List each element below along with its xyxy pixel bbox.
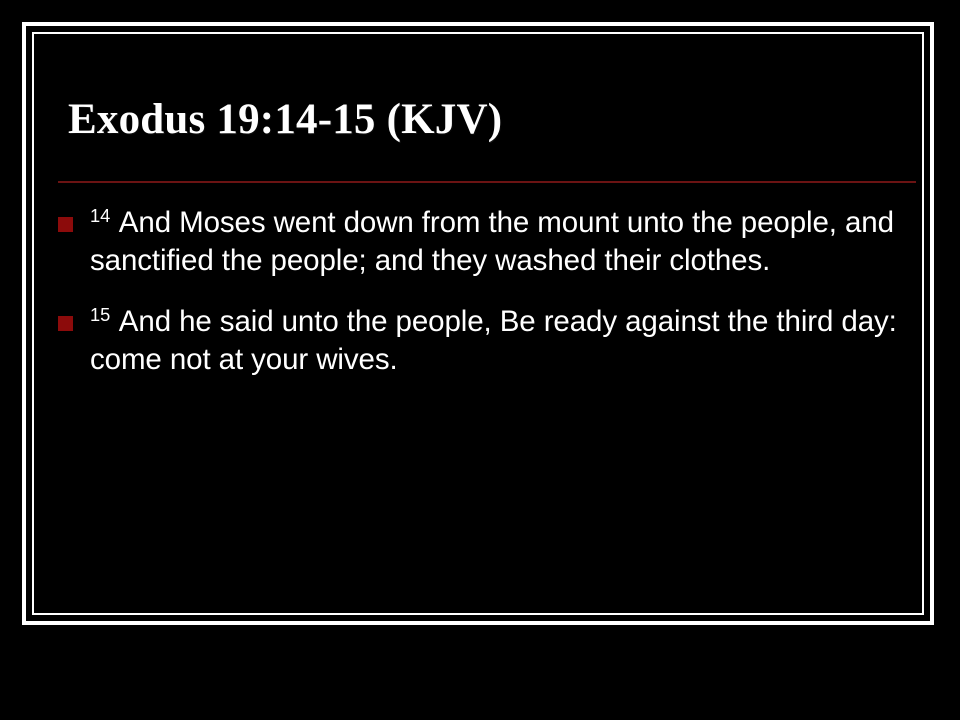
verse-number: 14 — [90, 205, 112, 226]
verse-text: And Moses went down from the mount unto … — [90, 206, 894, 277]
title-divider — [58, 181, 916, 183]
list-item: 15 And he said unto the people, Be ready… — [48, 303, 920, 380]
list-item: 14 And Moses went down from the mount un… — [48, 204, 920, 281]
square-bullet-icon — [58, 316, 73, 331]
square-bullet-icon — [58, 217, 73, 232]
slide-content: Exodus 19:14-15 (KJV) 14 And Moses went … — [36, 36, 920, 611]
verse-text: And he said unto the people, Be ready ag… — [90, 305, 897, 376]
verse-number: 15 — [90, 304, 112, 325]
page-title: Exodus 19:14-15 (KJV) — [68, 98, 502, 141]
presentation-slide: Exodus 19:14-15 (KJV) 14 And Moses went … — [0, 0, 960, 720]
verse-list: 14 And Moses went down from the mount un… — [48, 204, 920, 379]
